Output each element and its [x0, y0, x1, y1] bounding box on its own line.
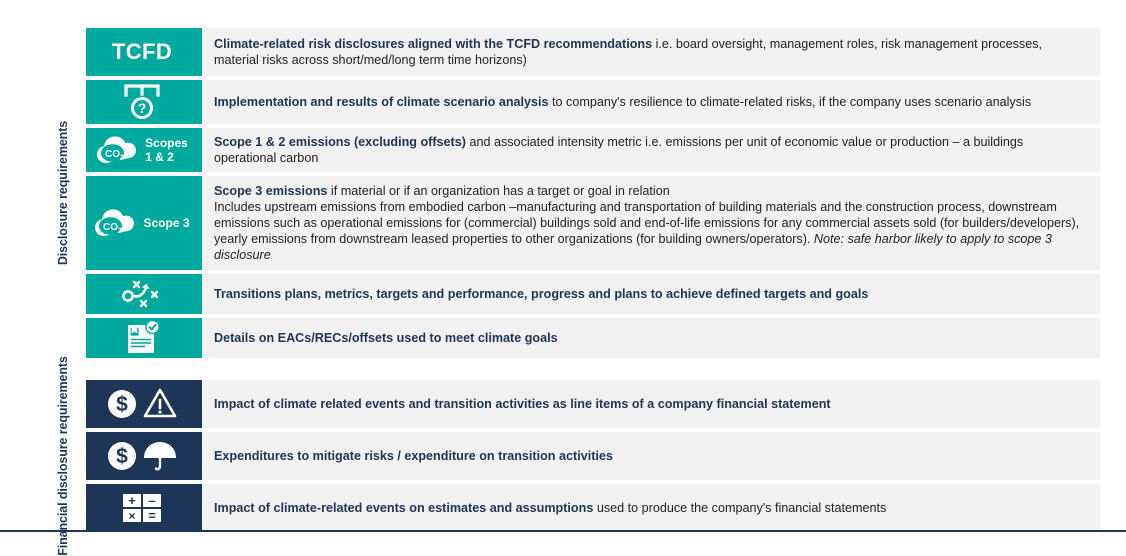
side-label-disclosure-text: Disclosure requirements — [56, 121, 70, 265]
row-content: Transitions plans, metrics, targets and … — [198, 274, 1100, 314]
svg-text:=: = — [148, 508, 156, 523]
dollar-umbrella-glyph: $ — [103, 438, 181, 474]
table-row[interactable]: Details on EACs/RECs/offsets used to mee… — [86, 318, 1100, 358]
row-bold-text: Details on EACs/RECs/offsets used to mee… — [214, 331, 558, 345]
row-bold-text: Expenditures to mitigate risks / expendi… — [214, 449, 613, 463]
svg-text:+: + — [128, 493, 136, 508]
dollar-umbrella-icon: $ — [86, 432, 198, 480]
table-row[interactable]: ? Implementation and results of climate … — [86, 80, 1100, 124]
row-bold-text: Impact of climate related events and tra… — [214, 397, 831, 411]
row-content: Climate-related risk disclosures aligned… — [198, 28, 1100, 76]
svg-text:$: $ — [116, 445, 128, 468]
svg-text:CO: CO — [105, 149, 120, 160]
row-content: Expenditures to mitigate risks / expendi… — [198, 432, 1100, 480]
transition-strategy-icon — [86, 274, 198, 314]
svg-text:–: – — [148, 493, 155, 508]
dollar-warning-icon: $ — [86, 380, 198, 428]
svg-text:2: 2 — [119, 228, 123, 235]
row-bold-text: Scope 3 emissions — [214, 184, 327, 198]
certificate-check-glyph — [121, 320, 163, 356]
row-content: Scope 3 emissions if material or if an o… — [198, 176, 1100, 270]
side-label-financial-text: Financial disclosure requirements — [56, 356, 70, 556]
scope-icon-label: Scopes 1 & 2 — [145, 136, 188, 164]
co2-cloud-scopes-1-2-icon: CO 2 Scopes 1 & 2 — [86, 128, 198, 172]
section-financial-disclosure-requirements: Financial disclosure requirements $ Impa… — [40, 380, 1100, 532]
row-bold-text: Transitions plans, metrics, targets and … — [214, 287, 868, 301]
row-rest-text: used to produce the company's financial … — [593, 501, 886, 515]
row-content: Details on EACs/RECs/offsets used to mee… — [198, 318, 1100, 358]
table-row[interactable]: TCFD Climate-related risk disclosures al… — [86, 28, 1100, 76]
row-rest-text: to company's resilience to climate-relat… — [549, 95, 1032, 109]
tcfd-icon-text: TCFD — [112, 39, 172, 65]
disclosure-rows: TCFD Climate-related risk disclosures al… — [86, 28, 1100, 358]
scenario-analysis-glyph: ? — [119, 80, 165, 124]
transition-strategy-glyph — [119, 277, 165, 311]
infographic-page: Disclosure requirements TCFD Climate-rel… — [0, 0, 1126, 538]
scenario-analysis-icon: ? — [86, 80, 198, 124]
scope-icon-label-line2: 1 & 2 — [145, 150, 174, 164]
co2-cloud-glyph: CO 2 — [94, 206, 136, 240]
row-bold-text: Climate-related risk disclosures aligned… — [214, 37, 652, 51]
financial-rows: $ Impact of climate related events and t… — [86, 380, 1100, 532]
svg-text:2: 2 — [120, 155, 124, 162]
svg-text:$: $ — [116, 393, 128, 416]
calculator-keys-glyph: + – × = — [116, 489, 168, 527]
svg-text:?: ? — [138, 100, 147, 116]
scope-icon-label: Scope 3 — [143, 216, 189, 230]
row-content: Impact of climate related events and tra… — [198, 380, 1100, 428]
calculator-keys-icon: + – × = — [86, 484, 198, 532]
row-rest-text: if material or if an organization has a … — [327, 184, 669, 198]
table-row[interactable]: $ Expenditures to mitigate risks / expen… — [86, 432, 1100, 480]
svg-text:CO: CO — [103, 222, 118, 233]
dollar-warning-glyph: $ — [103, 386, 181, 422]
co2-cloud-glyph: CO 2 — [96, 133, 138, 167]
co2-cloud-scope-3-icon: CO 2 Scope 3 — [86, 176, 198, 270]
scope-icon-label-line1: Scopes — [145, 136, 188, 150]
side-label-financial-disclosure-requirements: Financial disclosure requirements — [40, 380, 86, 532]
bottom-divider — [0, 530, 1126, 532]
certificate-check-icon — [86, 318, 198, 358]
svg-text:×: × — [128, 509, 135, 523]
row-content: Scope 1 & 2 emissions (excluding offsets… — [198, 128, 1100, 172]
tcfd-label-icon: TCFD — [86, 28, 198, 76]
table-row[interactable]: CO 2 Scopes 1 & 2 Scope 1 & 2 emissions … — [86, 128, 1100, 172]
row-bold-text: Implementation and results of climate sc… — [214, 95, 549, 109]
row-content: Impact of climate-related events on esti… — [198, 484, 1100, 532]
table-row[interactable]: CO 2 Scope 3 Scope 3 emissions if materi… — [86, 176, 1100, 270]
table-row[interactable]: Transitions plans, metrics, targets and … — [86, 274, 1100, 314]
table-row[interactable]: $ Impact of climate related events and t… — [86, 380, 1100, 428]
row-bold-text: Scope 1 & 2 emissions (excluding offsets… — [214, 135, 466, 149]
side-label-disclosure-requirements: Disclosure requirements — [40, 28, 86, 358]
row-content: Implementation and results of climate sc… — [198, 80, 1100, 124]
table-row[interactable]: + – × = Impact of climate-related events… — [86, 484, 1100, 532]
row-bold-text: Impact of climate-related events on esti… — [214, 501, 593, 515]
section-disclosure-requirements: Disclosure requirements TCFD Climate-rel… — [40, 28, 1100, 358]
